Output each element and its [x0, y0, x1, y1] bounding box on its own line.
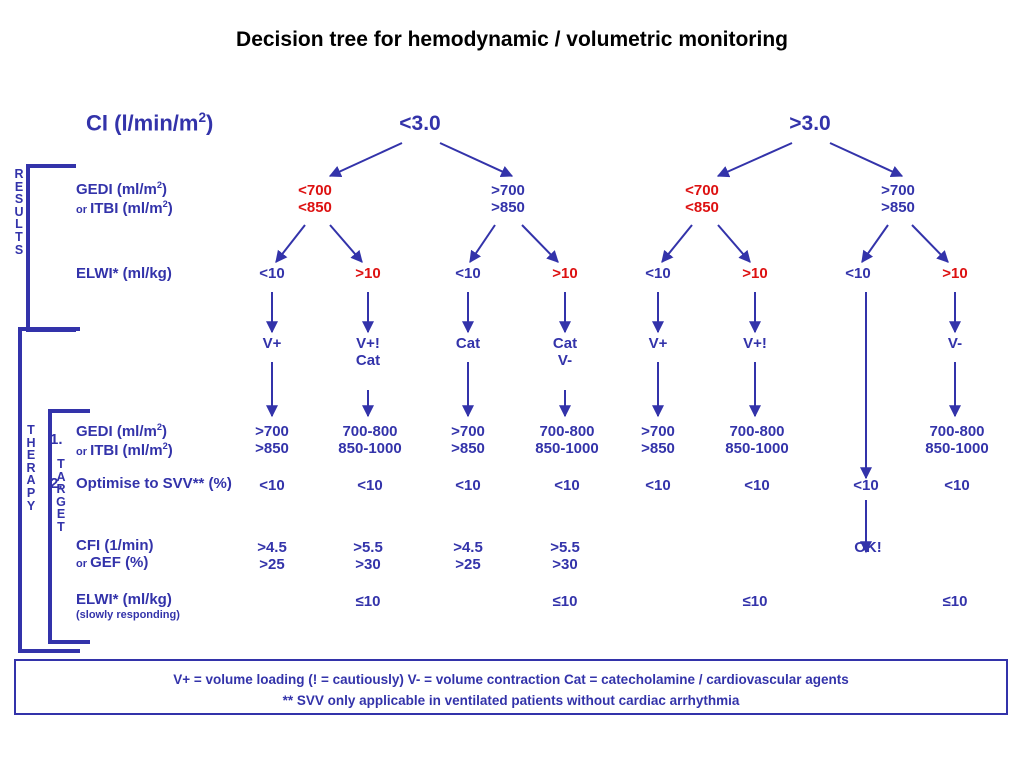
page-title: Decision tree for hemodynamic / volumetr…: [0, 28, 1024, 52]
elwi-slow-row-label: ELWI* (ml/kg) (slowly responding): [76, 592, 180, 621]
target-gedi-value-2: >700 >850: [451, 424, 485, 458]
gedi-value-1-line2: >850: [491, 200, 525, 217]
ci-value-0: <3.0: [399, 112, 440, 136]
tgedi-3-line1: 700-800: [535, 424, 598, 441]
cfi-value-1: >5.5 >30: [353, 540, 383, 574]
tgedi-7-line1: 700-800: [925, 424, 988, 441]
therapy-value-5: V+!: [743, 336, 767, 353]
tgedi-7-line2: 850-1000: [925, 441, 988, 458]
tgedi-line2-tail: ): [168, 442, 173, 459]
therapy-value-3: Cat V-: [553, 336, 577, 370]
tgedi-0-line1: >700: [255, 424, 289, 441]
gedi-value-2-line2: <850: [685, 200, 719, 217]
elwi-value-6: <10: [845, 266, 870, 283]
cfi-1-line1: >5.5: [353, 540, 383, 557]
therapy-5-line1: V+!: [743, 336, 767, 353]
svv-value-3: <10: [554, 478, 579, 495]
tgedi-line1-tail: ): [162, 423, 167, 440]
target-gedi-row-label: GEDI (ml/m2) or ITBI (ml/m2): [76, 422, 173, 459]
gedi-value-group-3: >700 >850: [881, 183, 915, 217]
tgedi-line2-or: or: [76, 446, 90, 458]
elwi-value-7: >10: [942, 266, 967, 283]
elwi-value-0: <10: [259, 266, 284, 283]
cfi-value-2: >4.5 >25: [453, 540, 483, 574]
ci-value-1: >3.0: [789, 112, 830, 136]
ci-label-tail: ): [206, 110, 213, 135]
gedi-value-group-0: <700 <850: [298, 183, 332, 217]
target-gedi-value-7: 700-800 850-1000: [925, 424, 988, 458]
therapy-4-line1: V+: [649, 336, 668, 353]
cfi-3-line1: >5.5: [550, 540, 580, 557]
tgedi-5-line2: 850-1000: [725, 441, 788, 458]
tgedi-2-line2: >850: [451, 441, 485, 458]
svv-value-7: <10: [944, 478, 969, 495]
tgedi-line2-main: ITBI (ml/m: [90, 442, 163, 459]
legend-line-2: ** SVV only applicable in ventilated pat…: [16, 693, 1006, 708]
elwi-slow-sub: (slowly responding): [76, 609, 180, 621]
results-bracket: [26, 164, 76, 332]
therapy-1-line2: Cat: [356, 353, 380, 370]
gedi-value-group-2: <700 <850: [685, 183, 719, 217]
svv-row-label: Optimise to SVV** (%): [76, 476, 232, 493]
cfi-1-line2: >30: [353, 557, 383, 574]
elwi-value-1: >10: [355, 266, 380, 283]
gedi-label-line2: or ITBI (ml/m2): [76, 199, 173, 218]
cfi-value-6: OK!: [854, 540, 882, 557]
cfi-0-line2: >25: [257, 557, 287, 574]
therapy-3-line1: Cat: [553, 336, 577, 353]
elwi-row-label: ELWI* (ml/kg): [76, 266, 172, 283]
elwi-slow-value-1: ≤10: [356, 594, 381, 611]
svv-value-4: <10: [645, 478, 670, 495]
gedi-label-line1: GEDI (ml/m2): [76, 180, 173, 199]
gedi-line2-main: ITBI (ml/m: [90, 200, 163, 217]
ci-row-label: CI (l/min/m2): [86, 110, 213, 136]
svv-value-2: <10: [455, 478, 480, 495]
tgedi-1-line1: 700-800: [338, 424, 401, 441]
target-label: T A R G E T: [50, 458, 72, 534]
tgedi-2-line1: >700: [451, 424, 485, 441]
tgedi-0-line2: >850: [255, 441, 289, 458]
therapy-value-2: Cat: [456, 336, 480, 353]
svv-value-6: <10: [853, 478, 878, 495]
therapy-value-0: V+: [263, 336, 282, 353]
elwi-value-4: <10: [645, 266, 670, 283]
cfi-0-line1: >4.5: [257, 540, 287, 557]
decision-tree-slide: Decision tree for hemodynamic / volumetr…: [0, 0, 1024, 768]
legend-box: V+ = volume loading (! = cautiously) V- …: [14, 659, 1008, 715]
ci-label-main: CI (l/min/m: [86, 110, 198, 135]
target-gedi-value-0: >700 >850: [255, 424, 289, 458]
target-gedi-num: 1.: [50, 432, 63, 449]
gedi-line1-tail: ): [162, 181, 167, 198]
therapy-value-7: V-: [948, 336, 962, 353]
elwi-slow-main: ELWI* (ml/kg): [76, 592, 180, 609]
cfi-2-line1: >4.5: [453, 540, 483, 557]
cfi-line2-or: or: [76, 558, 90, 570]
gedi-value-1-line1: >700: [491, 183, 525, 200]
tgedi-line1: GEDI (ml/m2): [76, 422, 173, 441]
cfi-row-label: CFI (1/min) or GEF (%): [76, 538, 154, 571]
tgedi-1-line2: 850-1000: [338, 441, 401, 458]
svv-value-0: <10: [259, 478, 284, 495]
svv-num: 2.: [50, 476, 63, 493]
gedi-value-group-1: >700 >850: [491, 183, 525, 217]
tgedi-line1-main: GEDI (ml/m: [76, 423, 157, 440]
svv-value-5: <10: [744, 478, 769, 495]
therapy-label: T H E R A P Y: [20, 424, 42, 512]
gedi-row-label: GEDI (ml/m2) or ITBI (ml/m2): [76, 180, 173, 217]
therapy-3-line2: V-: [553, 353, 577, 370]
therapy-value-4: V+: [649, 336, 668, 353]
cfi-3-line2: >30: [550, 557, 580, 574]
elwi-slow-value-5: ≤10: [743, 594, 768, 611]
cfi-line2-main: GEF (%): [90, 554, 148, 571]
therapy-2-line1: Cat: [456, 336, 480, 353]
tgedi-line2: or ITBI (ml/m2): [76, 441, 173, 460]
tgedi-5-line1: 700-800: [725, 424, 788, 441]
gedi-value-0-line1: <700: [298, 183, 332, 200]
elwi-value-5: >10: [742, 266, 767, 283]
target-gedi-value-5: 700-800 850-1000: [725, 424, 788, 458]
elwi-value-3: >10: [552, 266, 577, 283]
therapy-7-line1: V-: [948, 336, 962, 353]
elwi-slow-value-3: ≤10: [553, 594, 578, 611]
therapy-0-line1: V+: [263, 336, 282, 353]
results-label: R E S U L T S: [8, 168, 30, 256]
tgedi-4-line1: >700: [641, 424, 675, 441]
cfi-line2: or GEF (%): [76, 555, 154, 572]
ci-label-sup: 2: [198, 110, 206, 125]
therapy-1-line1: V+!: [356, 336, 380, 353]
svv-value-1: <10: [357, 478, 382, 495]
gedi-value-2-line1: <700: [685, 183, 719, 200]
cfi-6-line2: OK!: [854, 540, 882, 557]
gedi-line1-main: GEDI (ml/m: [76, 181, 157, 198]
gedi-value-0-line2: <850: [298, 200, 332, 217]
cfi-2-line2: >25: [453, 557, 483, 574]
target-gedi-value-1: 700-800 850-1000: [338, 424, 401, 458]
target-gedi-value-4: >700 >850: [641, 424, 675, 458]
legend-line-1: V+ = volume loading (! = cautiously) V- …: [16, 672, 1006, 687]
gedi-value-3-line2: >850: [881, 200, 915, 217]
gedi-value-3-line1: >700: [881, 183, 915, 200]
gedi-line2-tail: ): [168, 200, 173, 217]
tgedi-3-line2: 850-1000: [535, 441, 598, 458]
cfi-line1: CFI (1/min): [76, 538, 154, 555]
therapy-value-1: V+! Cat: [356, 336, 380, 370]
tgedi-4-line2: >850: [641, 441, 675, 458]
cfi-value-3: >5.5 >30: [550, 540, 580, 574]
elwi-slow-value-7: ≤10: [943, 594, 968, 611]
cfi-value-0: >4.5 >25: [257, 540, 287, 574]
gedi-line2-or: or: [76, 204, 90, 216]
elwi-value-2: <10: [455, 266, 480, 283]
target-gedi-value-3: 700-800 850-1000: [535, 424, 598, 458]
